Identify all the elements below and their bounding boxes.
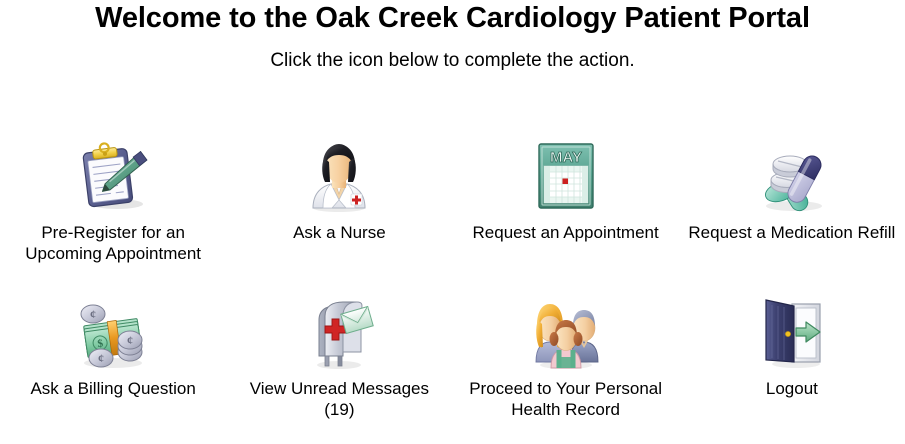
tile-request-appointment[interactable]: MAY xyxy=(453,132,679,288)
action-row-1: Pre-Register for an Upcoming Appointment xyxy=(0,132,905,288)
mailbox-icon[interactable] xyxy=(299,292,379,372)
tile-medication-refill[interactable]: Request a Medication Refill xyxy=(679,132,905,288)
svg-text:¢: ¢ xyxy=(98,351,104,365)
page-subtitle: Click the icon below to complete the act… xyxy=(0,50,905,72)
nurse-icon[interactable] xyxy=(299,136,379,216)
red-cross-icon xyxy=(351,194,362,205)
tile-label: View Unread Messages xyxy=(250,378,429,399)
tile-logout[interactable]: Logout xyxy=(679,288,905,444)
door-exit-icon[interactable] xyxy=(752,292,832,372)
tile-label: Logout xyxy=(766,378,818,399)
patient-portal-page: Welcome to the Oak Creek Cardiology Pati… xyxy=(0,0,905,444)
calendar-month-label: MAY xyxy=(550,149,582,166)
svg-text:¢: ¢ xyxy=(90,307,96,321)
action-icon-grid: Pre-Register for an Upcoming Appointment xyxy=(0,132,905,444)
calendar-icon[interactable]: MAY xyxy=(526,136,606,216)
money-icon[interactable]: ¢ $ $ xyxy=(73,292,153,372)
calendar-selected-day xyxy=(562,179,568,185)
clipboard-pen-icon[interactable] xyxy=(73,136,153,216)
tile-label: Pre-Register for an Upcoming Appointment xyxy=(4,222,222,264)
tile-label: Ask a Nurse xyxy=(293,222,386,243)
tile-billing-question[interactable]: ¢ $ $ xyxy=(0,288,226,444)
tile-pre-register[interactable]: Pre-Register for an Upcoming Appointment xyxy=(0,132,226,288)
tile-label: Ask a Billing Question xyxy=(30,378,195,399)
tile-label: Request an Appointment xyxy=(473,222,659,243)
coin-stack-right: ¢ xyxy=(118,331,142,361)
svg-text:¢: ¢ xyxy=(127,333,133,347)
action-row-2: ¢ $ $ xyxy=(0,288,905,444)
coin-stack-left: ¢ xyxy=(81,305,105,323)
tile-unread-messages[interactable]: View Unread Messages (19) xyxy=(226,288,452,444)
coin-front: ¢ xyxy=(89,349,113,367)
pills-icon[interactable] xyxy=(752,136,832,216)
page-title: Welcome to the Oak Creek Cardiology Pati… xyxy=(0,2,905,35)
tile-label: Proceed to Your Personal Health Record xyxy=(457,378,675,420)
tile-ask-nurse[interactable]: Ask a Nurse xyxy=(226,132,452,288)
tile-label: Request a Medication Refill xyxy=(688,222,895,243)
family-icon[interactable] xyxy=(526,292,606,372)
unread-count: (19) xyxy=(324,399,354,420)
tile-health-record[interactable]: Proceed to Your Personal Health Record xyxy=(453,288,679,444)
